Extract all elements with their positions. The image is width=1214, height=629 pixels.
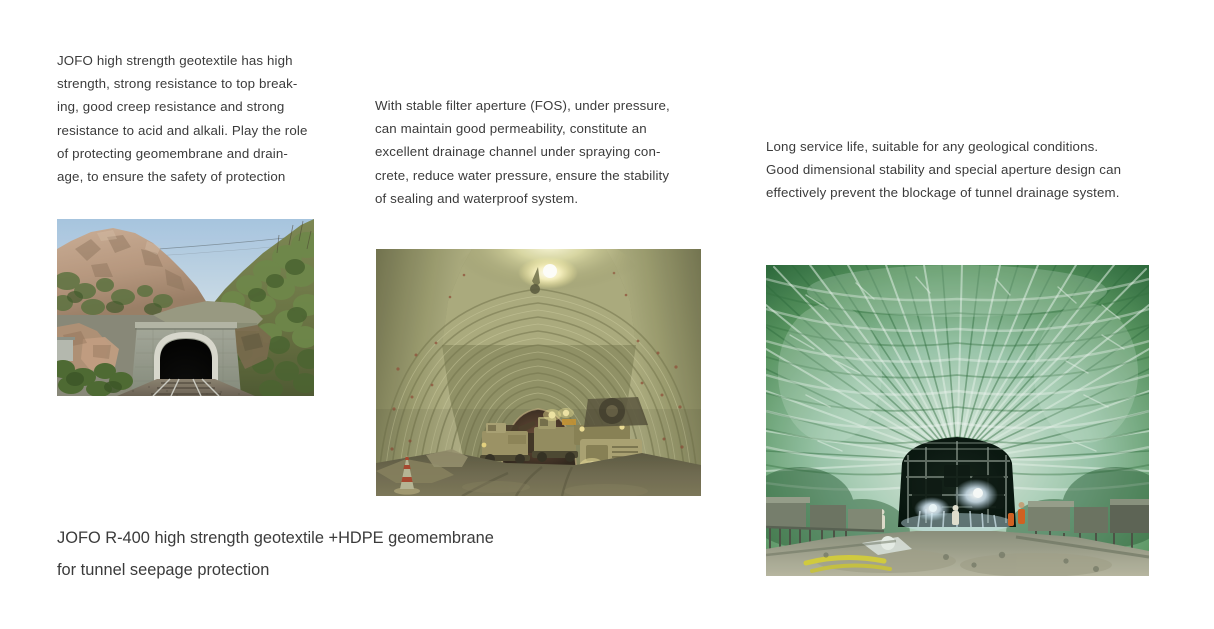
feature-paragraph-2: With stable filter aperture (FOS), under… [375, 94, 693, 210]
geomembrane-lining-photo: tunnel-lined-with-green-geomembrane-shee… [766, 265, 1149, 576]
tunnel-portal-illustration [57, 219, 314, 396]
product-caption: JOFO R-400 high strength geotextile +HDP… [57, 522, 677, 586]
feature-paragraph-3: Long service life, suitable for any geol… [766, 135, 1152, 205]
tunnel-portal-photo: railway-tunnel-portal-in-rocky-hillside [57, 219, 314, 396]
geomembrane-lining-illustration [766, 265, 1149, 576]
feature-paragraph-1: JOFO high strength geotextile has high s… [57, 49, 333, 188]
tunnel-construction-illustration [376, 249, 701, 496]
tunnel-construction-photo: tunnel-interior-under-construction-with-… [376, 249, 701, 496]
page-canvas: JOFO high strength geotextile has high s… [0, 0, 1214, 629]
